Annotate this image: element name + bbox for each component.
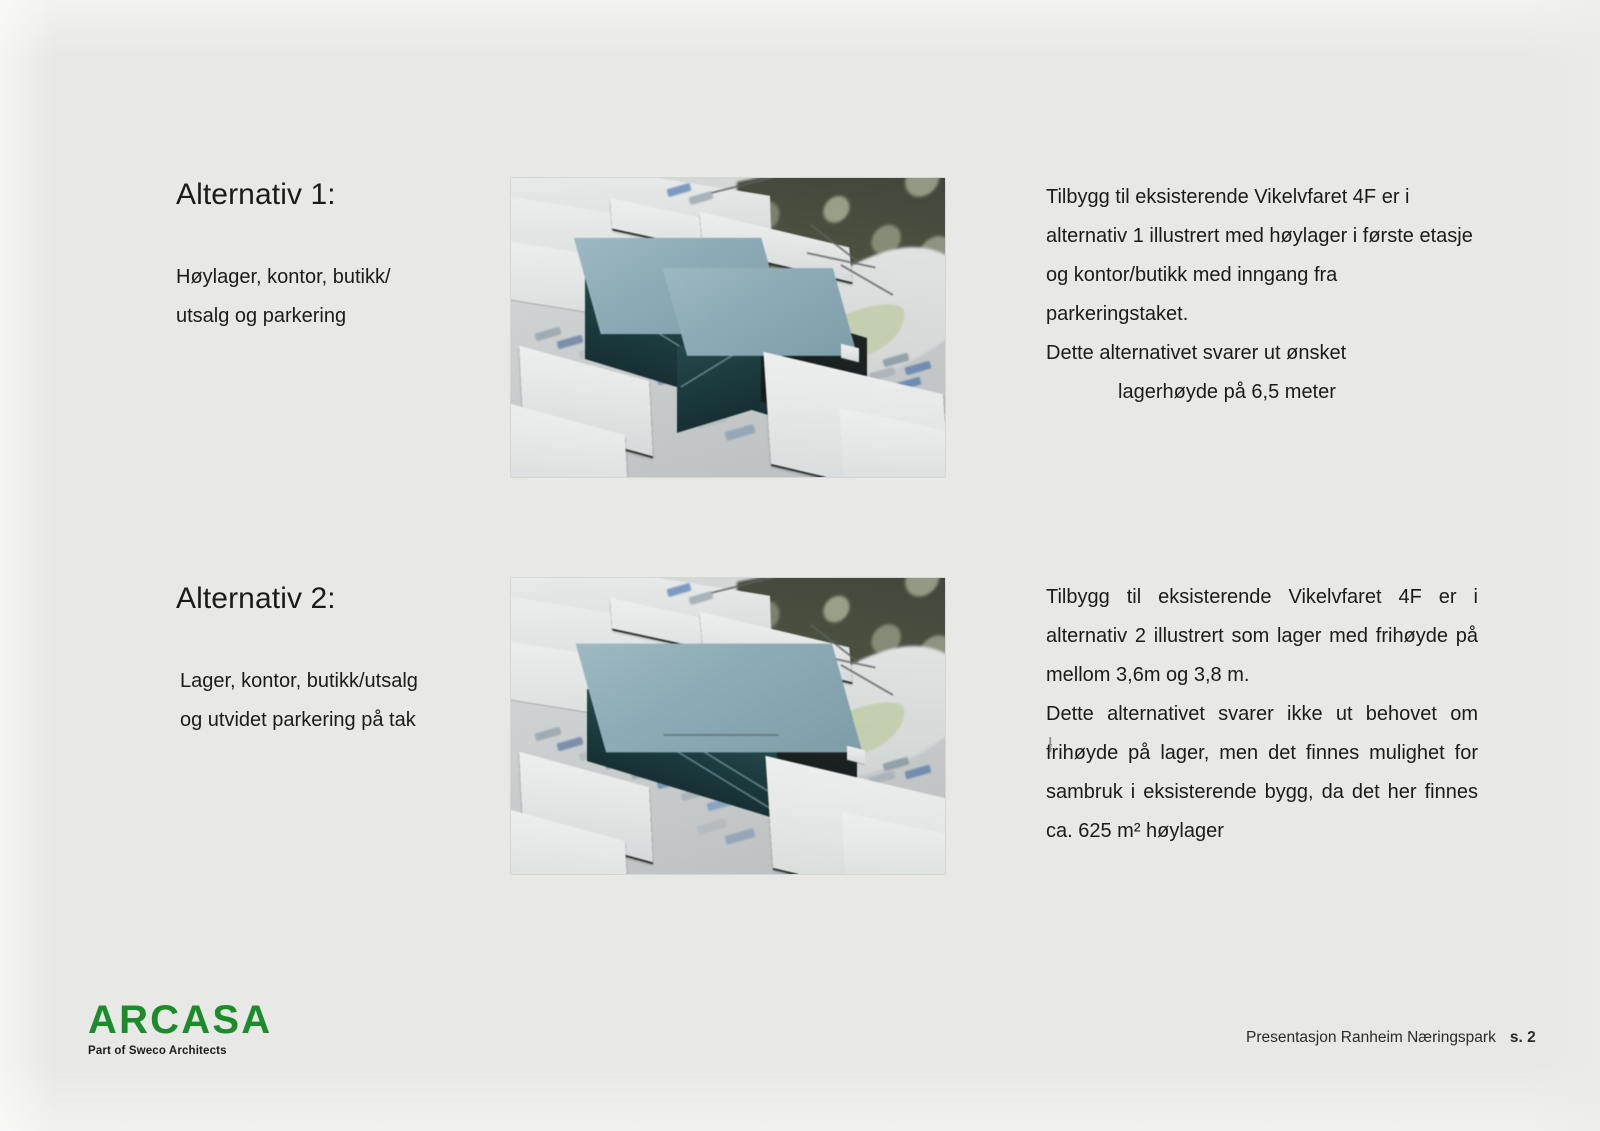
alternativ-1-paragraph-1: Tilbygg til eksisterende Vikelvfaret 4F … [1046,178,1476,334]
footer-page-number: s. 2 [1510,1029,1536,1046]
alternativ-2-subtitle-line-2: og utvidet parkering på tak [180,701,520,740]
alternativ-2-description: Tilbygg til eksisterende Vikelvfaret 4F … [1046,578,1478,851]
arcasa-logo-wordmark: ARCASA [88,1000,272,1040]
alternativ-2-heading: Alternativ 2: [176,582,336,616]
alternativ-2-subtitle-line-1: Lager, kontor, butikk/utsalg [180,662,520,701]
footer-caption: Presentasjon Ranheim Næringsparks. 2 [1246,1029,1536,1047]
rendering-alternativ-2 [511,578,945,874]
alternativ-1-description: Tilbygg til eksisterende Vikelvfaret 4F … [1046,178,1476,412]
arcasa-logo-tagline: Part of Sweco Architects [88,1045,272,1057]
presentation-slide: Alternativ 1: Høylager, kontor, butikk/ … [0,0,1600,1131]
footer-presentation-title: Presentasjon Ranheim Næringspark [1246,1029,1496,1046]
rendering-alternativ-1 [511,178,945,477]
stray-pen-mark: l [1048,735,1052,758]
alternativ-1-subtitle: Høylager, kontor, butikk/ utsalg og park… [176,258,516,336]
alternativ-1-indented-line: lagerhøyde på 6,5 meter [1046,373,1476,412]
alternativ-1-subtitle-line-1: Høylager, kontor, butikk/ [176,258,516,297]
alternativ-2-paragraph-2: Dette alternativet svarer ikke ut behove… [1046,695,1478,851]
alternativ-2-paragraph-1: Tilbygg til eksisterende Vikelvfaret 4F … [1046,578,1478,695]
alternativ-1-subtitle-line-2: utsalg og parkering [176,297,516,336]
alternativ-2-subtitle: Lager, kontor, butikk/utsalg og utvidet … [180,662,520,740]
alternativ-1-paragraph-2: Dette alternativet svarer ut ønsket [1046,334,1476,373]
alternativ-1-heading: Alternativ 1: [176,178,336,212]
arcasa-logo: ARCASA Part of Sweco Architects [88,1000,272,1057]
